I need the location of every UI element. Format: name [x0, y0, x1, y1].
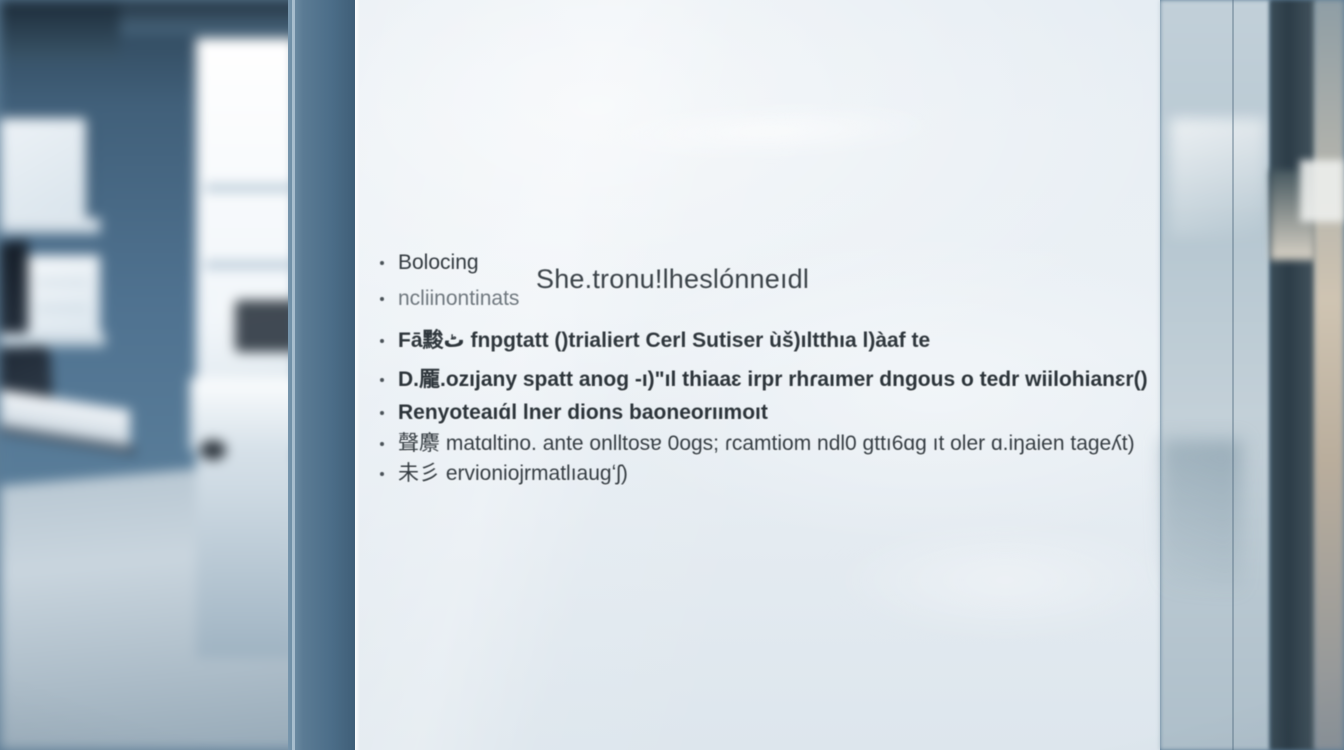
list-item-label: ncliinontinats	[398, 279, 519, 319]
list-item: ncliinontinats	[378, 279, 1168, 319]
bullet-dot-icon	[380, 297, 384, 301]
bullet-list: Bolocing ncliinontinats Fā黢ٹ fnpgtatt ()…	[378, 246, 1168, 489]
bullet-dot-icon	[380, 472, 384, 476]
window-mullion-lower	[205, 262, 293, 268]
dark-door-frame	[1270, 0, 1316, 750]
far-right-panel	[1300, 160, 1344, 222]
list-item: Renyoteaıɑ́l lner dions baoneorıımoıt	[378, 396, 1168, 429]
etched-text-block: She.tronu!lheslónneıdl Bolocing ncliinon…	[378, 246, 1168, 489]
list-item: Bolocing	[378, 246, 1168, 279]
bullet-dot-icon	[380, 261, 384, 265]
list-item-label: 聲麖 matɑltino. ante onlltosɐ 0ogs; ɾcamti…	[398, 429, 1135, 459]
whiteboard-upper	[0, 118, 86, 218]
glass-reflection-lower	[1162, 440, 1242, 590]
bullet-dot-icon	[380, 339, 384, 343]
list-item: D.龎.ozıjany spatt anog -ı)"ıl thiaaɛ irp…	[378, 363, 1168, 396]
list-item: 聲麖 matɑltino. ante onlltosɐ 0ogs; ɾcamti…	[378, 429, 1168, 459]
glass-light-streak-lower	[825, 520, 1185, 640]
list-item-label: 未彡 ervioniojrmatlıaugʻʃ)	[398, 459, 628, 489]
glass-reflection-upper	[1170, 118, 1266, 238]
list-item-label: D.龎.ozıjany spatt anog -ı)"ıl thiaaɛ irp…	[398, 363, 1148, 396]
screenshot-root: She.tronu!lheslónneıdl Bolocing ncliinon…	[0, 0, 1344, 750]
bullet-dot-icon	[380, 411, 384, 415]
list-item: Fā黢ٹ fnpgtatt ()trialiert Cerl Sutiser ù…	[378, 319, 1168, 363]
glass-left-edge	[355, 0, 360, 750]
wall-shelf-upper	[0, 218, 100, 234]
pillar-highlight-edge	[292, 0, 295, 750]
bullet-dot-icon	[380, 378, 384, 382]
bullet-dot-icon	[380, 442, 384, 446]
whiteboard-lower	[28, 255, 100, 338]
secondary-glass-panel	[1160, 0, 1270, 750]
list-item-label: Renyoteaıɑ́l lner dions baoneorıımoıt	[398, 396, 768, 429]
glass-seam	[1232, 0, 1234, 750]
far-object	[200, 440, 226, 460]
glass-light-streak	[604, 102, 935, 159]
far-right-wall	[1314, 0, 1344, 750]
wall-pillar	[288, 0, 356, 750]
list-item-label: Bolocing	[398, 246, 479, 279]
far-desk	[190, 378, 300, 450]
wall-shelf-lower	[0, 333, 105, 347]
window-mullion-upper	[205, 185, 293, 191]
wall-shadow	[0, 0, 120, 60]
list-item: 未彡 ervioniojrmatlıaugʻʃ)	[378, 459, 1168, 489]
list-item-label: Fā黢ٹ fnpgtatt ()trialiert Cerl Sutiser ù…	[398, 319, 930, 363]
